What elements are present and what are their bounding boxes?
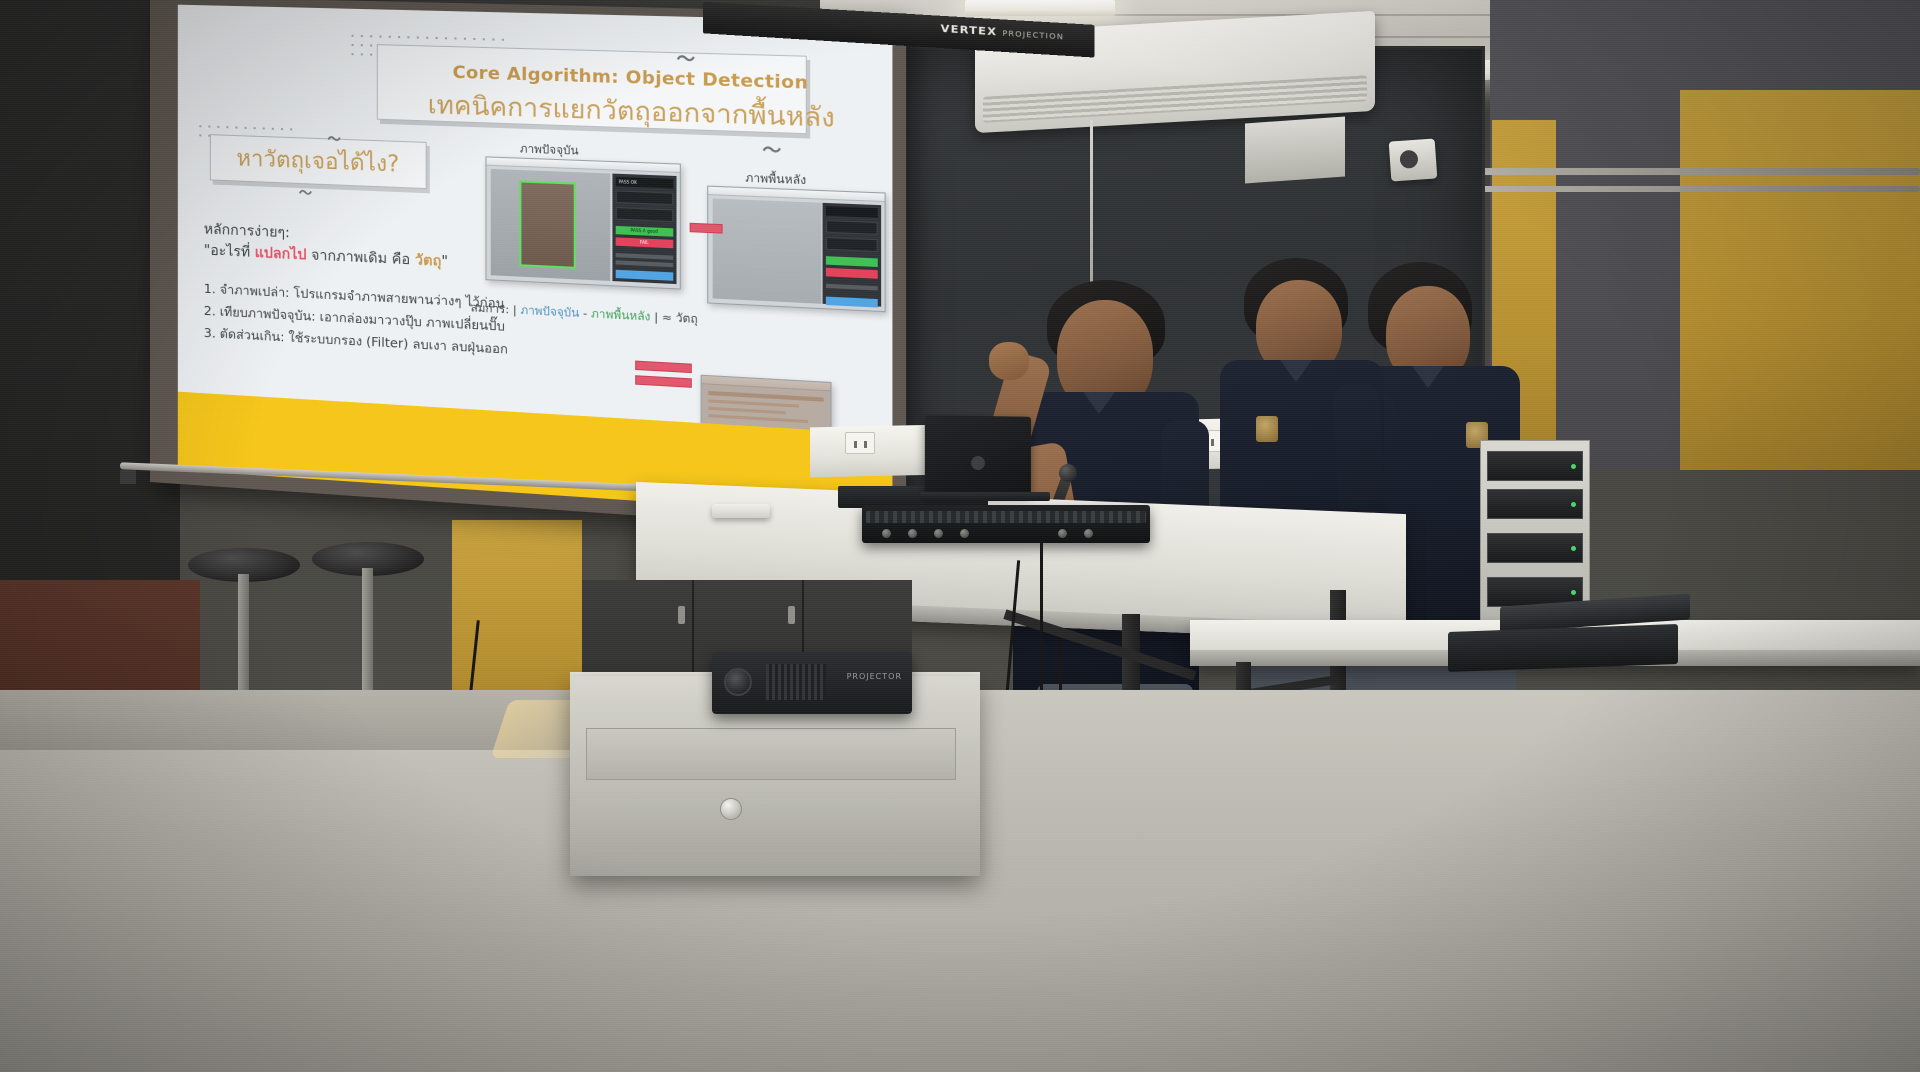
status-led <box>1571 590 1576 595</box>
rack-unit <box>1487 533 1583 563</box>
laptop-base[interactable] <box>920 492 1050 501</box>
detection-bounding-box <box>519 181 576 269</box>
app-action-button <box>615 270 673 281</box>
screenshot-current-frame: PASS OK PASS A good FAIL <box>485 156 680 289</box>
app-fail-button <box>826 268 878 279</box>
hand-gesture <box>989 342 1029 380</box>
brand-subtext: PROJECTION <box>1002 29 1064 41</box>
audio-mixer <box>862 505 1150 543</box>
mixer-knob[interactable] <box>1084 529 1093 538</box>
app-sidebar <box>822 203 881 307</box>
cart-knob[interactable] <box>720 798 742 820</box>
mixer-knob[interactable] <box>882 529 891 538</box>
app-info-line <box>826 284 878 291</box>
ceiling-light <box>965 0 1115 16</box>
squiggle-icon: 〜 <box>327 128 340 148</box>
red-marker-bar <box>635 361 692 374</box>
cart-drawer[interactable] <box>586 728 956 780</box>
projector: PROJECTOR <box>712 652 912 714</box>
cabinet-handle[interactable] <box>788 606 795 624</box>
quote-post: " <box>441 253 448 270</box>
rack-unit <box>1487 489 1583 519</box>
slide-title-thai: เทคนิคการแยกวัตถุออกจากพื้นหลัง <box>379 83 888 141</box>
quote-highlight: แปลกไป <box>255 245 307 264</box>
collar <box>1280 360 1312 382</box>
screen-mount <box>120 470 136 484</box>
projector-label: PROJECTOR <box>847 672 902 681</box>
app-action-button <box>826 297 878 308</box>
laptop-logo <box>971 456 985 470</box>
mixer-faceplate <box>866 511 1146 523</box>
mixer-knob[interactable] <box>908 529 917 538</box>
power-outlet <box>845 432 875 454</box>
speaker-cone <box>1399 150 1418 169</box>
mixer-knob[interactable] <box>960 529 969 538</box>
projector-lens <box>724 668 752 696</box>
wall-panel <box>1680 90 1920 470</box>
app-status-header <box>826 206 878 218</box>
cabinet-handle[interactable] <box>678 606 685 624</box>
rack-unit <box>1487 451 1583 481</box>
equation-background: ภาพพื้นหลัง <box>591 307 650 324</box>
screenshot-background-frame <box>707 186 885 313</box>
screen-brand-label: VERTEX PROJECTION <box>941 23 1064 42</box>
aircon-duct <box>1245 117 1345 184</box>
quote-mid: จากภาพเดิม คือ <box>306 247 414 268</box>
app-info-line <box>615 260 673 267</box>
equation-current: ภาพปัจจุบัน <box>521 304 580 320</box>
app-sidebar: PASS OK PASS A good FAIL <box>612 174 676 285</box>
status-led <box>1571 464 1576 469</box>
equation-minus: - <box>579 307 591 321</box>
red-marker-bar <box>690 223 723 234</box>
app-video-canvas-empty <box>713 198 822 303</box>
mixer-knob[interactable] <box>1058 529 1067 538</box>
app-field-row <box>615 190 673 205</box>
app-info-line <box>615 253 673 260</box>
laptop-screen[interactable] <box>925 415 1031 495</box>
presentation-slide: Core Algorithm: Object Detection เทคนิคก… <box>178 5 893 518</box>
squiggle-icon: 〜 <box>677 44 696 71</box>
wall-speaker <box>1389 138 1438 181</box>
projection-screen: Core Algorithm: Object Detection เทคนิคก… <box>150 0 906 534</box>
app-pass-button: PASS A good <box>615 226 673 237</box>
app-field-row <box>615 207 673 222</box>
mixer-knob[interactable] <box>934 529 943 538</box>
status-led <box>1571 546 1576 551</box>
classroom-presentation-photo: Core Algorithm: Object Detection เทคนิคก… <box>0 0 1920 1072</box>
app-video-canvas <box>491 169 610 281</box>
collar <box>1083 392 1115 414</box>
app-status-header: PASS OK <box>615 177 673 189</box>
squiggle-icon: 〜 <box>762 135 781 162</box>
brand-text: VERTEX <box>941 23 998 38</box>
laptop-right <box>1448 624 1678 672</box>
app-field-row <box>826 220 878 235</box>
remote-control[interactable] <box>712 504 770 518</box>
app-fail-button: FAIL <box>615 237 673 248</box>
principle-quote: "อะไรที่ แปลกไป จากภาพเดิม คือ วัตถุ" <box>204 239 448 273</box>
collar <box>1412 366 1444 388</box>
squiggle-icon: 〜 <box>299 182 312 202</box>
quote-object: วัตถุ <box>415 252 442 270</box>
red-marker-bar <box>635 375 692 388</box>
equation-prefix: สมการ: | <box>471 301 521 317</box>
projector-vent <box>766 664 826 700</box>
app-pass-button <box>826 256 878 267</box>
shirt-logo <box>1256 416 1278 442</box>
equation-suffix: | ≈ วัตถุ <box>650 310 697 326</box>
app-field-row <box>826 237 878 252</box>
quote-prefix: "อะไรที่ <box>204 242 255 260</box>
status-led <box>1571 502 1576 507</box>
microphone-head <box>1059 464 1077 482</box>
